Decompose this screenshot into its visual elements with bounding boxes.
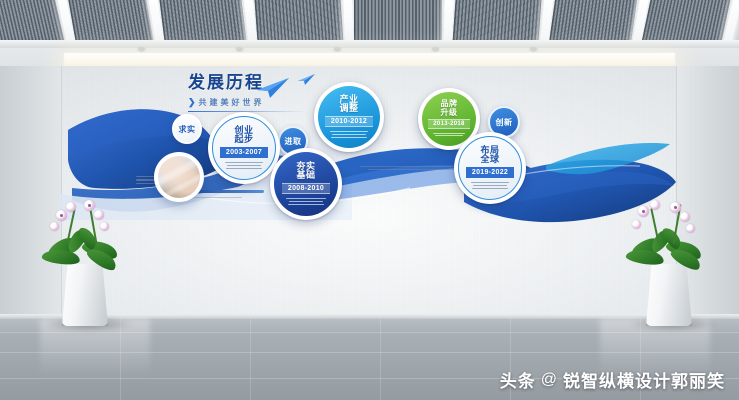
handshake-photo[interactable] — [154, 152, 204, 202]
node-face: 创业 起步 2003-2007 — [212, 116, 276, 180]
node-title: 创业 起步 — [234, 126, 253, 145]
milestone-node-chanye[interactable]: 产业 调整 2010-2012 — [314, 82, 384, 152]
mid-arrows: ▶▶▶ ▶ — [360, 156, 468, 164]
watermark-handle: 锐智纵横设计郭丽笑 — [563, 367, 725, 392]
node-face: 夯实 基础 2008-2010 — [274, 152, 338, 216]
downlight — [138, 47, 145, 50]
watermark: 头条 @ 锐智纵横设计郭丽笑 — [500, 367, 725, 392]
ceiling — [0, 0, 739, 42]
value-tag-qiushi[interactable]: 求实 — [172, 114, 202, 144]
paper-plane-icon — [256, 76, 290, 100]
chevron-right-icon: ❯ — [188, 97, 196, 108]
orchid-plant-right — [620, 196, 724, 326]
node-desc — [465, 181, 515, 191]
node-desc — [280, 197, 331, 207]
watermark-at: @ — [541, 371, 558, 389]
node-date: 2010-2012 — [325, 116, 373, 127]
paper-plane-small-icon — [298, 73, 316, 86]
node-title: 产业 调整 — [339, 95, 358, 114]
node-desc — [219, 161, 269, 171]
node-title: 布局 全球 — [480, 146, 499, 165]
node-face: 产业 调整 2010-2012 — [318, 86, 380, 148]
downlight — [432, 47, 439, 50]
node-desc — [324, 130, 374, 140]
page-subtitle: 共建美好世界 — [199, 97, 265, 108]
node-date: 2008-2010 — [282, 183, 330, 194]
milestone-node-chuangye[interactable]: 创业 起步 2003-2007 — [208, 112, 280, 184]
node-desc — [427, 131, 470, 138]
photo-image — [158, 156, 200, 198]
milestone-node-buju[interactable]: 布局 全球 2019-2022 — [454, 132, 526, 204]
node-face: 布局 全球 2019-2022 — [458, 136, 522, 200]
scene-root: 发展历程 ❯ 共建美好世界 ▶▶▶ ▶ — [0, 0, 739, 400]
node-date: 2019-2022 — [466, 167, 514, 178]
wall-accent-bar — [190, 190, 264, 200]
node-title: 夯实 基础 — [296, 162, 315, 181]
node-date: 2003-2007 — [220, 147, 268, 158]
orchid-plant-left — [36, 196, 140, 326]
value-tag-label: 进取 — [285, 136, 302, 147]
node-date: 2013-2018 — [428, 119, 469, 129]
node-title: 品牌 升级 — [441, 100, 458, 117]
downlight — [530, 47, 537, 50]
downlight — [236, 47, 243, 50]
downlight — [334, 47, 341, 50]
value-tag-label: 创新 — [496, 117, 513, 128]
mid-decoration: ▶▶▶ ▶ — [360, 156, 468, 172]
pot — [62, 264, 108, 326]
watermark-brand: 头条 — [500, 367, 536, 392]
pot — [646, 264, 692, 326]
value-tag-label: 求实 — [179, 124, 196, 135]
culture-wall-graphic: 发展历程 ❯ 共建美好世界 ▶▶▶ ▶ — [60, 70, 680, 250]
milestone-node-hangshi[interactable]: 夯实 基础 2008-2010 — [270, 148, 342, 220]
